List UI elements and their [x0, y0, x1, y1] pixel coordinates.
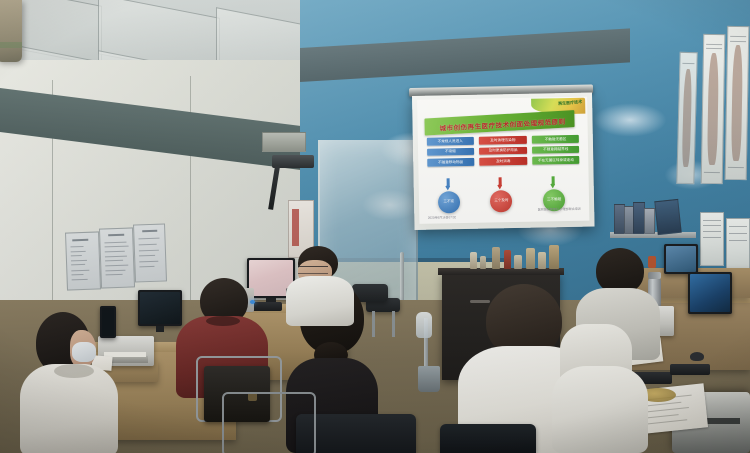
waste-bin [418, 366, 440, 392]
reagent-jar [549, 245, 559, 269]
coat-collar [54, 364, 94, 378]
person-right-foreground [552, 366, 648, 453]
door-handle[interactable] [400, 252, 404, 304]
binder [654, 199, 681, 235]
slide-band: 及时清理污染物 [479, 136, 527, 144]
projection-screen: 再生医疗技术 城市创伤再生医疗技术创面处理规范原则 不常规人员进入 不吸烟 不随… [412, 93, 595, 230]
slide-footer-left: 2020年6月16日07:02 [428, 215, 456, 220]
right-monitor-1 [664, 244, 698, 274]
slide-band: 不随意移动物品 [427, 158, 475, 166]
binder [644, 208, 655, 234]
face-mask [72, 342, 96, 362]
mouse[interactable] [690, 352, 704, 361]
slide-band: 不随意跨越界线 [532, 146, 580, 154]
slide-arrow-blue [444, 179, 451, 192]
hanging-object-band [0, 42, 22, 48]
cabinet-top-surface [438, 268, 564, 275]
reagent-bottle [480, 256, 486, 269]
slide-circle-blue: 三不宣 [438, 191, 460, 213]
person-white-coat-mask [14, 312, 124, 453]
reagent-bottle [470, 252, 477, 269]
ceiling-beam-left [0, 88, 300, 170]
collar [206, 316, 240, 326]
hanging-fabric-object [0, 0, 22, 62]
person-presenter-white-shirt [286, 246, 356, 326]
meeting-room-photograph: 再生医疗技术 城市创伤再生医疗技术创面处理规范原则 不常规人员进入 不吸烟 不随… [0, 0, 750, 453]
wall-notice-2 [99, 227, 135, 288]
slide-title: 城市创伤再生医疗技术创面处理规范原则 [417, 111, 587, 138]
anatomy-chart-2 [725, 26, 750, 180]
reagent-bottle-red [504, 250, 511, 269]
slide-column-green: 不触碰无菌区 不随意跨越界线 不在无菌区转身或走动 [532, 135, 580, 167]
anatomy-chart-3 [676, 52, 697, 184]
presentation-slide: 再生医疗技术 城市创伤再生医疗技术创面处理规范原则 不常规人员进入 不吸烟 不随… [417, 97, 589, 224]
slide-band: 不吸烟 [427, 148, 475, 156]
slide-band: 不触碰无菌区 [532, 135, 580, 143]
torso-white-shirt [286, 276, 354, 326]
anatomy-chart-1 [701, 34, 726, 184]
iv-bottle [416, 312, 432, 338]
reagent-bottle [526, 248, 535, 269]
right-monitor-2 [688, 272, 732, 314]
slide-band: 及时消毒 [479, 157, 527, 165]
slide-arrow-red [497, 178, 504, 191]
reagent-bottle [514, 255, 522, 269]
posted-form-right-lower [700, 212, 724, 266]
reagent-bottle [538, 252, 546, 269]
slide-arrow-green [549, 177, 556, 190]
slide-band: 不在无菌区转身或走动 [532, 156, 580, 164]
stool-leg [392, 311, 395, 337]
wall-notice-3 [133, 223, 167, 282]
slide-footer-right: 医院感染管理科·护理部联合培训 [538, 207, 581, 212]
reagent-bottle [492, 247, 500, 269]
wall-vent-upper-left [262, 132, 306, 152]
slide-circle-red: 三个及时 [490, 190, 512, 212]
right-keyboard-2[interactable] [670, 364, 710, 375]
slide-band: 不常规人员进入 [426, 137, 474, 145]
slide-column-blue: 不常规人员进入 不吸烟 不随意移动物品 [426, 137, 474, 169]
foreground-chair-back-2[interactable] [440, 424, 536, 453]
slide-column-red: 及时清理污染物 及时更换防护用品 及时消毒 [479, 136, 527, 168]
right-monitor-screen [690, 274, 730, 312]
chair-frame-foreground[interactable] [222, 392, 316, 453]
slide-band: 及时更换防护用品 [479, 147, 527, 155]
torso-white-shirt [552, 366, 648, 453]
posted-form-right-lower-2 [726, 218, 750, 272]
glasses-icon [298, 266, 328, 274]
wall-notice-1 [65, 231, 101, 290]
